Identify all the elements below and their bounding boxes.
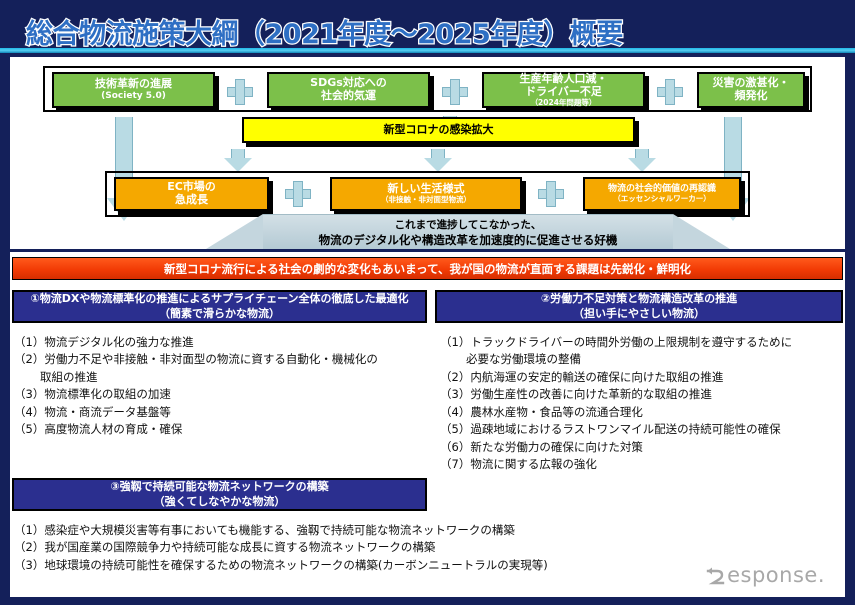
list-item: （4）物流・商流データ基盤等: [14, 404, 434, 421]
page-title: 総合物流施策大綱（2021年度～2025年度）概要: [26, 12, 623, 51]
section-2-list: （1）トラックドライバーの時間外労働の上限規制を遵守するために 必要な労働環境の…: [440, 334, 850, 474]
plus-icon-2: [442, 79, 468, 105]
list-item-cont: 取組の推進: [14, 369, 434, 386]
title-band: 総合物流施策大綱（2021年度～2025年度）概要: [0, 0, 855, 55]
impact-box-social-value: 物流の社会的価値の再認識 （エッセンシャルワーカー）: [583, 177, 741, 211]
plus-icon-4: [285, 181, 311, 207]
plus-icon-5: [538, 181, 564, 207]
infographic-page: 総合物流施策大綱（2021年度～2025年度）概要 技術革新の進展 (Socie…: [0, 0, 855, 605]
title-underline-rule: [0, 48, 855, 53]
key-message-banner: 新型コロナ流行による社会の劇的な変化もあいまって、我が国の物流が直面する課題は先…: [12, 257, 843, 280]
list-item: （3）物流標準化の取組の加速: [14, 386, 434, 403]
impact-box-new-lifestyle: 新しい生活様式 （非接触・非対面型物流）: [330, 177, 522, 211]
list-item: （1）物流デジタル化の強力な推進: [14, 334, 434, 351]
section-1-header: ①物流DXや物流標準化の推進によるサプライチェーン全体の徹底した最適化 （簡素で…: [12, 290, 427, 323]
impact-box-ec-market: EC市場の 急成長: [114, 177, 269, 211]
list-item: （1）トラックドライバーの時間外労働の上限規制を遵守するために: [440, 334, 850, 351]
logo-text: esponse.: [727, 563, 825, 587]
drivers-diagram: 技術革新の進展 (Society 5.0) SDGs対応への 社会的気運 生産年…: [10, 57, 845, 249]
plus-icon-3: [657, 79, 683, 105]
list-item: （3）労働生産性の改善に向けた革新的な取組の推進: [440, 386, 850, 403]
list-item: （2）労働力不足や非接触・非対面型の物流に資する自動化・機械化の: [14, 351, 434, 368]
driver-box-technology: 技術革新の進展 (Society 5.0): [52, 72, 215, 108]
banner-wing-left: [206, 214, 263, 249]
good-chance-banner: これまで進捗してこなかった、 物流のデジタル化や構造改革を加速度的に促進させる好…: [263, 214, 673, 249]
response-arrow-icon: [705, 564, 725, 586]
response-logo: esponse.: [705, 563, 825, 587]
section-1-list: （1）物流デジタル化の強力な推進 （2）労働力不足や非接触・非対面型の物流に資す…: [14, 334, 434, 439]
policy-sections: 新型コロナ流行による社会の劇的な変化もあいまって、我が国の物流が直面する課題は先…: [10, 252, 845, 597]
section-2-header: ②労働力不足対策と物流構造改革の推進 （担い手にやさしい物流）: [435, 290, 843, 323]
plus-icon-1: [227, 79, 253, 105]
list-item: （4）農林水産物・食品等の流通合理化: [440, 404, 850, 421]
list-item: （2）内航海運の安定的輸送の確保に向けた取組の推進: [440, 369, 850, 386]
list-item-cont: 必要な労働環境の整備: [440, 351, 850, 368]
driver-box-disasters: 災害の激甚化・ 頻発化: [697, 72, 805, 108]
section-3-header: ③強靱で持続可能な物流ネットワークの構築 （強くてしなやかな物流）: [12, 478, 427, 511]
list-item: （2）我が国産業の国際競争力や持続可能な成長に資する物流ネットワークの構築: [14, 539, 844, 556]
banner-wing-right: [673, 214, 730, 249]
list-item: （7）物流に関する広報の強化: [440, 456, 850, 473]
driver-box-sdgs: SDGs対応への 社会的気運: [267, 72, 430, 108]
list-item: （1）感染症や大規模災害等有事においても機能する、強靱で持続可能な物流ネットワー…: [14, 522, 844, 539]
driver-box-labor-shortage: 生産年齢人口減・ ドライバー不足 （2024年問題等）: [482, 72, 645, 108]
list-item: （5）高度物流人材の育成・確保: [14, 421, 434, 438]
list-item: （5）過疎地域におけるラストワンマイル配送の持続可能性の確保: [440, 421, 850, 438]
covid-spread-box: 新型コロナの感染拡大: [242, 117, 635, 143]
list-item: （6）新たな労働力の確保に向けた対策: [440, 439, 850, 456]
